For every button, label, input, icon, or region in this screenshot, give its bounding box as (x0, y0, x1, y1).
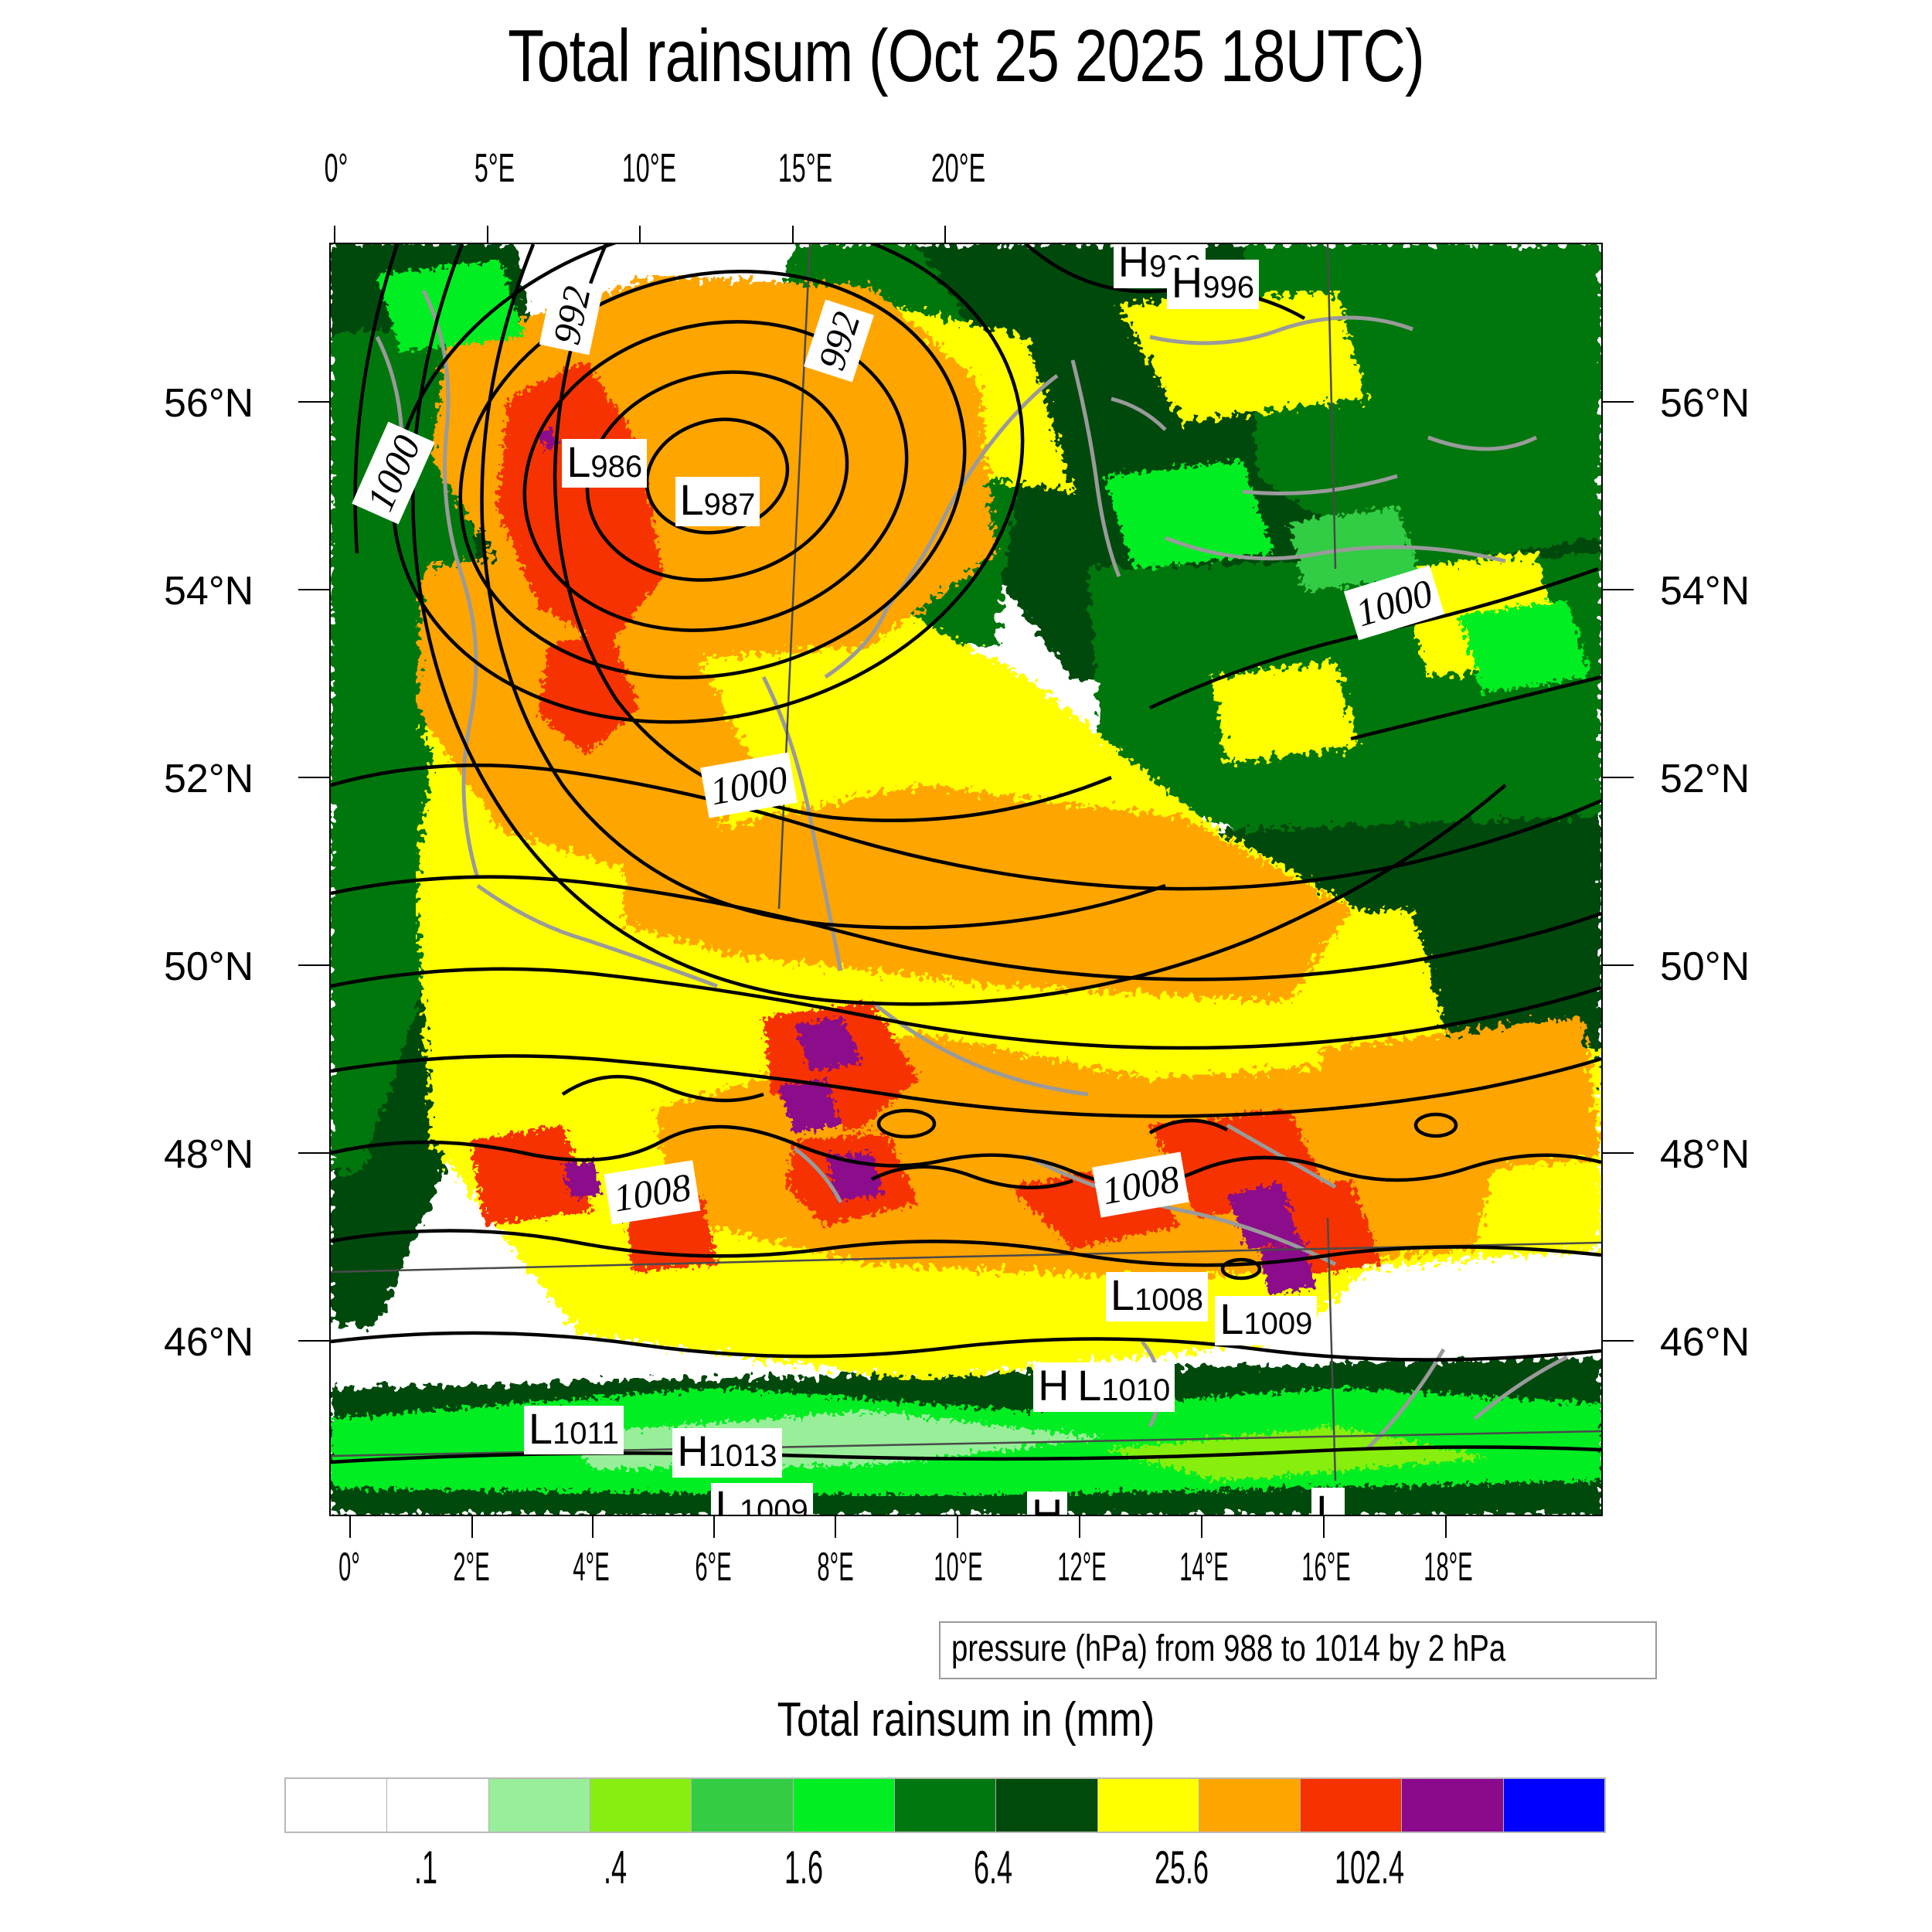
axis-bottom-tick-label: 16°E (1296, 1544, 1356, 1590)
pressure-center-type: L (529, 1404, 553, 1453)
axis-left-tick-label: 52°N (164, 756, 253, 802)
axis-tick (1603, 777, 1634, 778)
pressure-center-label: L986 (562, 439, 647, 488)
pressure-center-type: H (1172, 258, 1202, 307)
axis-tick (1603, 401, 1634, 403)
pressure-center-type: L (1111, 1270, 1134, 1319)
pressure-contours (331, 244, 1601, 1515)
pressure-contour-legend-text: pressure (hPa) from 988 to 1014 by 2 hPa (951, 1628, 1505, 1670)
pressure-center-label: H996 (1167, 260, 1259, 309)
axis-tick (592, 1516, 594, 1538)
pressure-center-type: L (1219, 1294, 1243, 1343)
axis-tick (1603, 1340, 1634, 1342)
pressure-center-label: H (1027, 1492, 1067, 1516)
colorbar-tick-label: 102.4 (1335, 1841, 1404, 1894)
axis-top-tick-label: 20°E (925, 145, 992, 192)
axis-tick (298, 777, 329, 778)
axis-tick (1603, 964, 1634, 966)
axis-bottom-tick-label: 12°E (1052, 1544, 1112, 1590)
pressure-center-value: 996 (1202, 270, 1254, 304)
colorbar-tick-label: 25.6 (1155, 1841, 1209, 1894)
axis-tick (334, 226, 335, 243)
axis-tick (298, 401, 329, 403)
pressure-center-type: L (566, 437, 590, 486)
axis-top-tick-label: 5°E (468, 145, 521, 192)
axis-left-tick-label: 46°N (164, 1319, 253, 1366)
axis-left-tick-label: 50°N (164, 944, 253, 990)
colorbar-cell-orange-red (1301, 1779, 1402, 1832)
pressure-center-value: 1011 (553, 1417, 619, 1451)
colorbar-title-text: Total rainsum in (mm) (777, 1692, 1155, 1747)
axis-bottom-tick-label: 0° (332, 1544, 367, 1590)
colorbar-tick-label: 1.6 (784, 1841, 823, 1894)
pressure-center-label: L1011 (524, 1406, 624, 1455)
pressure-center-type: H (1118, 243, 1149, 286)
axis-bottom-tick-label: 2°E (447, 1544, 495, 1590)
pressure-center-type: L (1316, 1486, 1340, 1516)
axis-tick (713, 1516, 715, 1538)
colorbar-tick-label: .4 (603, 1841, 626, 1894)
pressure-center-type: L (1077, 1361, 1101, 1410)
colorbar-cell-purple (1402, 1779, 1503, 1832)
axis-tick (1603, 589, 1634, 590)
pressure-center-value: 1008 (1134, 1283, 1203, 1317)
axis-tick (1323, 1516, 1325, 1538)
colorbar-cell-yellow-green (590, 1779, 692, 1832)
pressure-center-value: 987 (704, 488, 756, 522)
pressure-center-label: L (1311, 1488, 1345, 1516)
pressure-center-label: L1009 (1215, 1296, 1317, 1345)
colorbar-tick-label: 6.4 (974, 1841, 1012, 1894)
pressure-center-label: L987 (675, 477, 760, 526)
axis-left-tick-label: 54°N (164, 568, 253, 614)
axis-bottom-tick-label: 8°E (811, 1544, 859, 1590)
axis-tick (957, 1516, 958, 1538)
axis-top-tick-label: 0° (317, 145, 355, 192)
colorbar-cell-dark-green (895, 1779, 996, 1832)
axis-tick (298, 1152, 329, 1154)
axis-right-tick-label: 56°N (1660, 380, 1750, 427)
colorbar-tick-labels: .1.41.66.425.6102.4 (284, 1841, 1606, 1903)
axis-bottom-tick-label: 10°E (928, 1544, 988, 1590)
axis-tick (298, 964, 329, 966)
colorbar-cell-blue (1504, 1779, 1604, 1832)
pressure-center-type: L (680, 475, 704, 524)
pressure-center-value: 1013 (709, 1439, 777, 1473)
colorbar-cell-orange (1199, 1779, 1301, 1832)
axis-right-tick-label: 54°N (1660, 568, 1750, 614)
colorbar[interactable] (284, 1777, 1606, 1833)
colorbar-cell-medium-green (692, 1779, 793, 1832)
pressure-center-value: 1009 (1243, 1307, 1312, 1341)
colorbar-cell-yellow (1098, 1779, 1199, 1832)
axis-top-tick-label: 15°E (772, 145, 839, 192)
page-title: Total rainsum (Oct 25 2025 18UTC) (193, 14, 1739, 99)
pressure-center-type: H (1032, 1490, 1063, 1516)
axis-tick (1079, 1516, 1080, 1538)
axis-right-tick-label: 46°N (1660, 1319, 1750, 1366)
pressure-center-label: L1008 (1106, 1272, 1208, 1321)
colorbar-cell-light-green (489, 1779, 590, 1832)
pressure-center-value: 986 (590, 450, 642, 484)
colorbar-cell-darkest-green (996, 1779, 1097, 1832)
pressure-center-value: 1010 (1101, 1373, 1170, 1407)
pressure-center-label: H1013 (672, 1428, 781, 1478)
pressure-center-type: H (1038, 1361, 1069, 1410)
axis-left-tick-label: 56°N (164, 380, 253, 427)
axis-top-tick-label: 10°E (616, 145, 683, 192)
pressure-center-type: H (677, 1427, 708, 1475)
axis-tick (639, 226, 641, 243)
pressure-center-label: L1010 (1073, 1362, 1175, 1412)
axis-tick (471, 1516, 473, 1538)
colorbar-cell-white (387, 1779, 488, 1832)
axis-bottom-tick-label: 14°E (1174, 1544, 1234, 1590)
axis-bottom-tick-label: 4°E (567, 1544, 615, 1590)
axis-right-tick-label: 48°N (1660, 1131, 1750, 1178)
axis-tick (298, 589, 329, 590)
axis-right-tick-label: 52°N (1660, 756, 1750, 802)
colorbar-title: Total rainsum in (mm) (0, 1692, 1932, 1747)
pressure-center-label: L1009 (711, 1483, 813, 1516)
colorbar-cell-white (286, 1779, 387, 1832)
axis-tick (1445, 1516, 1447, 1538)
axis-right-tick-label: 50°N (1660, 944, 1750, 990)
axis-tick (1603, 1152, 1634, 1154)
axis-bottom-tick-label: 18°E (1418, 1544, 1478, 1590)
colorbar-cell-bright-green (794, 1779, 895, 1832)
axis-tick (1201, 1516, 1202, 1538)
map-plot-area[interactable]: L986 L987 H996 H996 L1008 L1009 H L1010 … (329, 243, 1603, 1516)
pressure-center-label: H (1033, 1362, 1073, 1412)
pressure-center-type: L (716, 1481, 740, 1516)
axis-left-tick-label: 48°N (164, 1131, 253, 1178)
axis-bottom-tick-label: 6°E (689, 1544, 737, 1590)
axis-tick (487, 226, 488, 243)
axis-tick (298, 1340, 329, 1342)
pressure-center-value: 1009 (740, 1494, 808, 1516)
pressure-contour-legend: pressure (hPa) from 988 to 1014 by 2 hPa (939, 1621, 1657, 1679)
axis-tick (349, 1516, 351, 1538)
colorbar-tick-label: .1 (414, 1841, 437, 1894)
axis-tick (792, 226, 794, 243)
axis-tick (835, 1516, 836, 1538)
axis-tick (944, 226, 946, 243)
